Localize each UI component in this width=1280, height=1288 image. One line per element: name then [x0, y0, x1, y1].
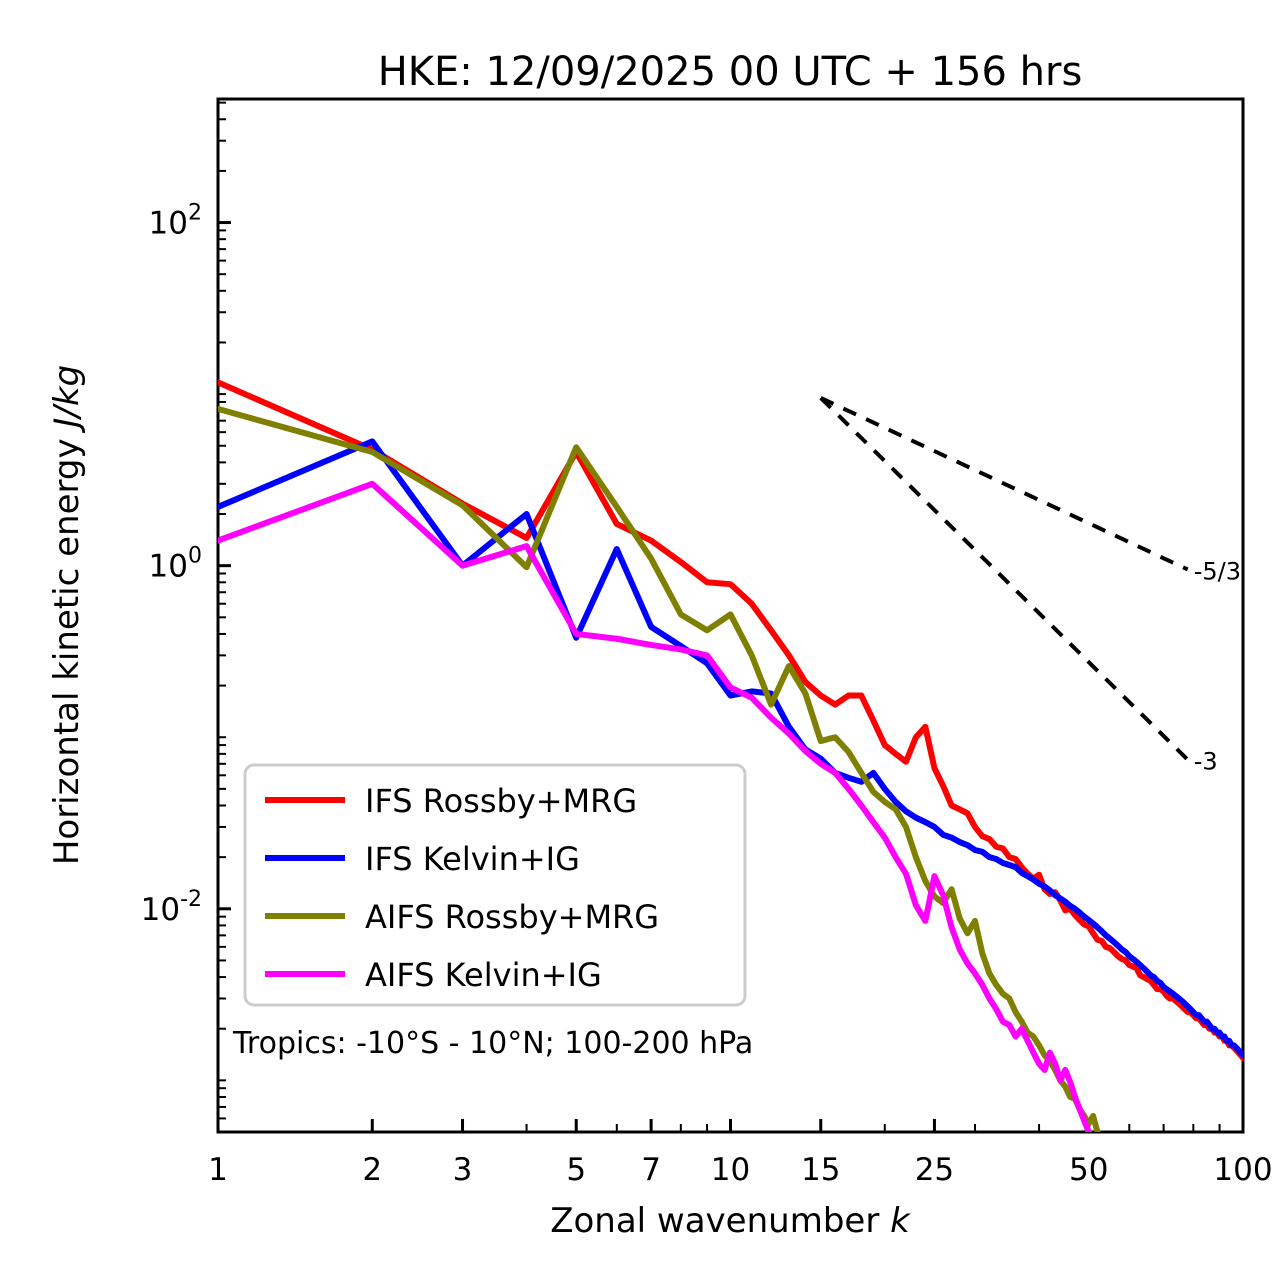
legend-label-ifs-rossby-mrg: IFS Rossby+MRG [365, 782, 637, 820]
legend-label-ifs-kelvin-ig: IFS Kelvin+IG [365, 840, 580, 878]
x-tick-label: 10 [711, 1152, 750, 1188]
y-axis-label-symbol: J/kg [47, 365, 87, 434]
y-axis-label-text: Horizontal kinetic energy [47, 438, 87, 865]
x-tick-label: 100 [1213, 1152, 1272, 1188]
x-axis-label-text: Zonal wavenumber [550, 1201, 879, 1241]
chart-canvas: HKE: 12/09/2025 00 UTC + 156 hrs 1235710… [0, 0, 1280, 1288]
legend-label-aifs-rossby-mrg: AIFS Rossby+MRG [365, 898, 659, 936]
reference-slope-label: -3 [1194, 748, 1218, 776]
x-tick-label: 15 [801, 1152, 840, 1188]
chart-title: HKE: 12/09/2025 00 UTC + 156 hrs [378, 49, 1083, 95]
x-tick-label: 7 [641, 1152, 661, 1188]
x-tick-label: 1 [208, 1152, 228, 1188]
x-axis-label-symbol: k [890, 1201, 911, 1241]
reference-slope-label: -5/3 [1194, 557, 1241, 585]
x-tick-label: 2 [362, 1152, 382, 1188]
x-tick-label: 5 [566, 1152, 586, 1188]
x-axis-label: Zonal wavenumber k [550, 1201, 911, 1241]
region-annotation: Tropics: -10°S - 10°N; 100-200 hPa [232, 1026, 753, 1061]
x-tick-label: 25 [915, 1152, 954, 1188]
legend: IFS Rossby+MRG IFS Kelvin+IG AIFS Rossby… [245, 765, 745, 1005]
y-axis-label: Horizontal kinetic energy J/kg [47, 365, 87, 865]
x-tick-label: 3 [453, 1152, 473, 1188]
x-tick-label: 50 [1069, 1152, 1108, 1188]
legend-label-aifs-kelvin-ig: AIFS Kelvin+IG [365, 956, 602, 994]
figure-root: HKE: 12/09/2025 00 UTC + 156 hrs 1235710… [0, 0, 1280, 1288]
